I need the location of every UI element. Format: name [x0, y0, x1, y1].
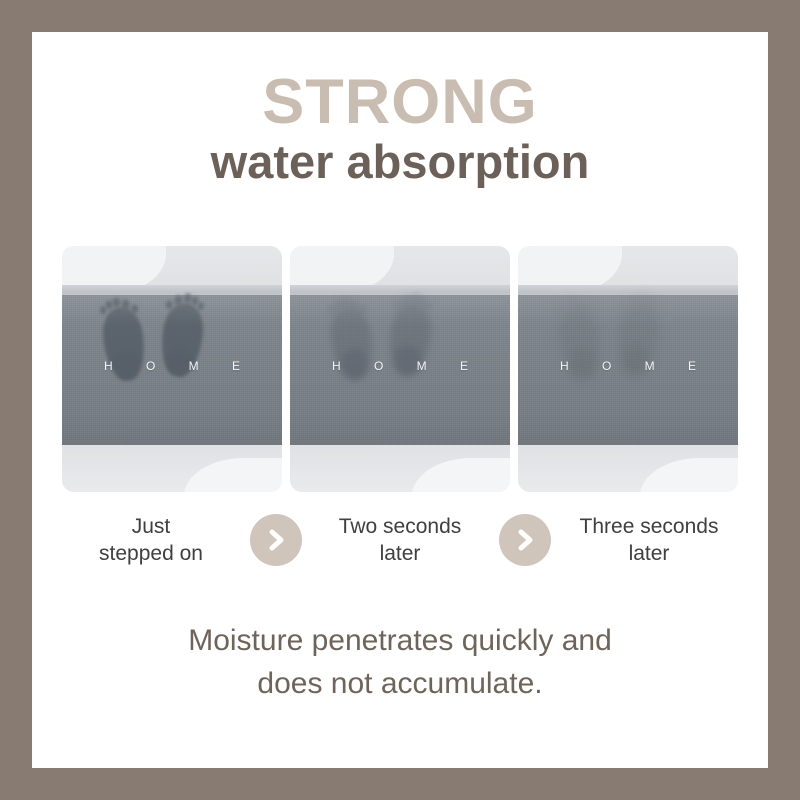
mat-wordmark-1: H O M E — [62, 359, 282, 373]
caption-line-2: stepped on — [62, 540, 240, 567]
caption-just-stepped-on: Just stepped on — [62, 513, 240, 568]
caption-line-2: later — [311, 540, 489, 567]
caption-three-seconds-later: Three seconds later — [560, 513, 738, 568]
bath-mat-2: H O M E — [290, 293, 510, 445]
page-title: STRONG water absorption — [32, 70, 768, 189]
caption-line-2: later — [560, 540, 738, 567]
caption-line-1: Three seconds — [560, 513, 738, 540]
title-strong: STRONG — [32, 70, 768, 134]
mat-wordmark-3: H O M E — [518, 359, 738, 373]
caption-line-1: Two seconds — [311, 513, 489, 540]
chevron-right-icon — [499, 514, 551, 566]
mat-photo-panel-1: H O M E — [62, 246, 282, 492]
caption-line-1: Just — [62, 513, 240, 540]
tagline: Moisture penetrates quickly and does not… — [72, 620, 728, 705]
tagline-line-1: Moisture penetrates quickly and — [72, 620, 728, 663]
title-subtitle: water absorption — [32, 136, 768, 189]
mat-photo-panel-3: H O M E — [518, 246, 738, 492]
mat-photo-panel-2: H O M E — [290, 246, 510, 492]
sequence-caption-row: Just stepped on Two seconds later Three … — [62, 502, 738, 578]
mat-wordmark-2: H O M E — [290, 359, 510, 373]
chevron-right-icon — [250, 514, 302, 566]
bath-mat-3: H O M E — [518, 293, 738, 445]
tagline-line-2: does not accumulate. — [72, 663, 728, 706]
absorption-sequence-panels: H O M E H O M E — [62, 246, 738, 492]
caption-two-seconds-later: Two seconds later — [311, 513, 489, 568]
poster-card: STRONG water absorption H O M E — [32, 32, 768, 768]
bath-mat-1: H O M E — [62, 293, 282, 445]
